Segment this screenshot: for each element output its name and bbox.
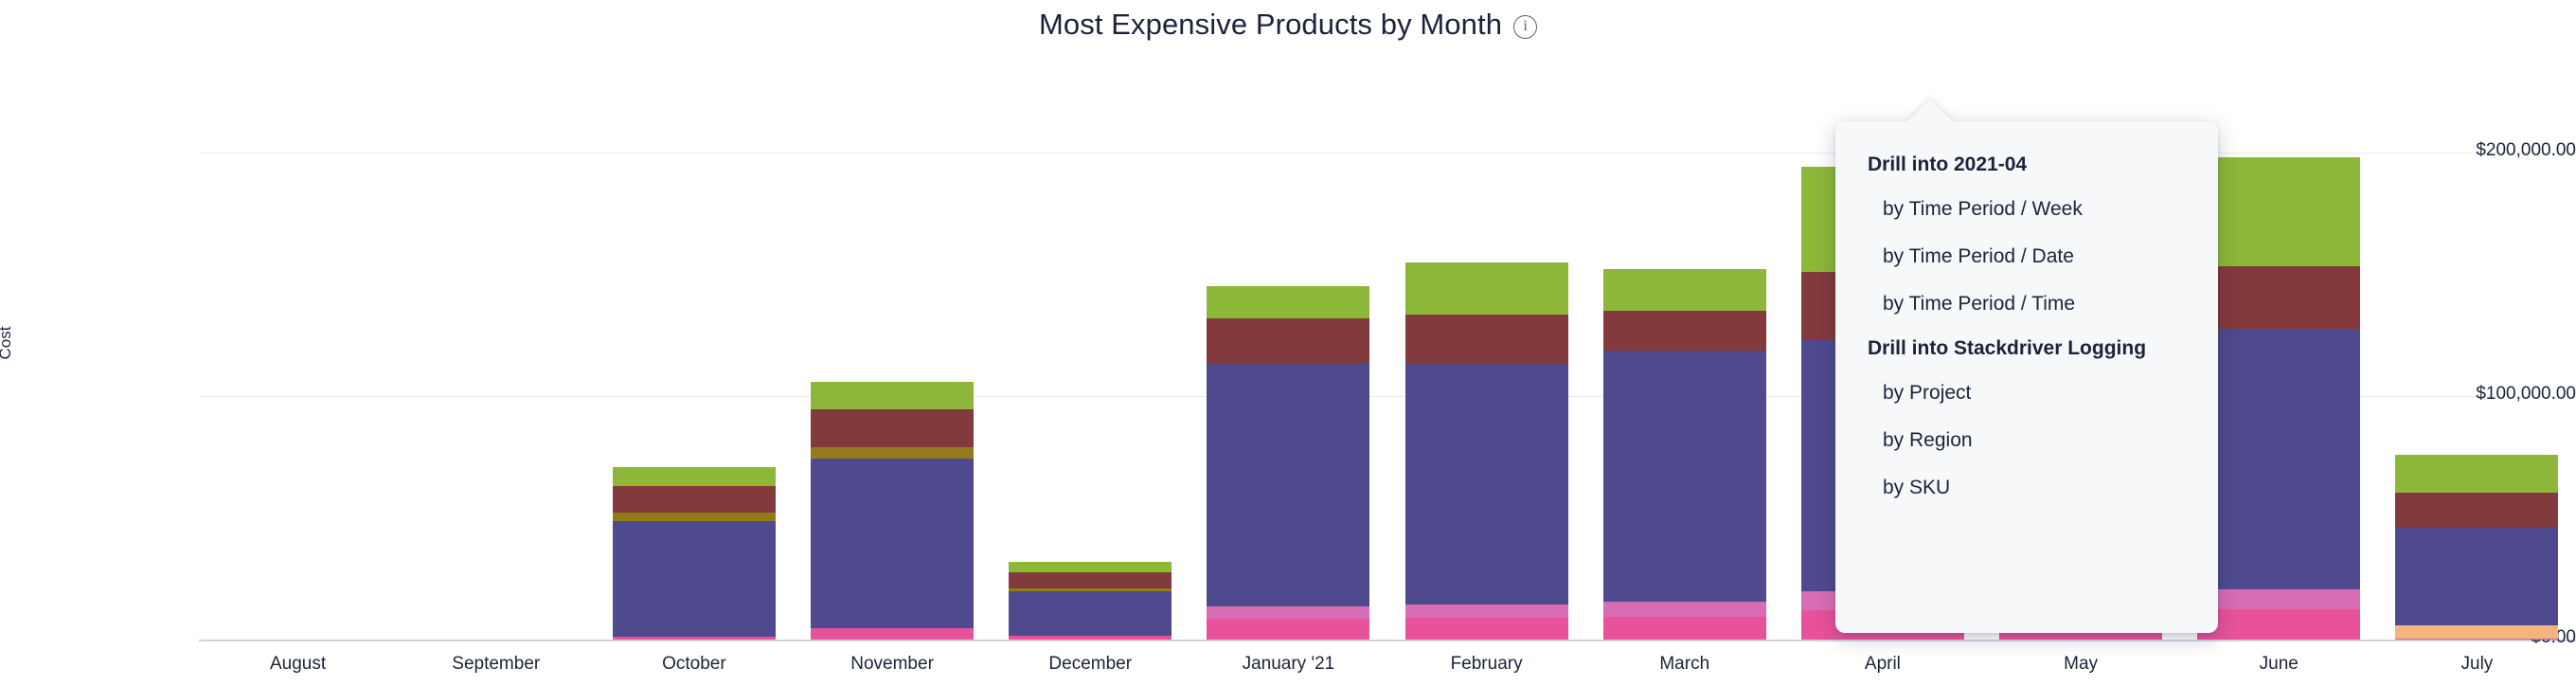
bar-segment-pink[interactable] xyxy=(1405,618,1568,640)
bar-segment-dark-red[interactable] xyxy=(1009,572,1172,588)
bar-segment-pink[interactable] xyxy=(1603,617,1766,640)
bar-column[interactable] xyxy=(613,467,776,640)
x-axis-tick-label: October xyxy=(662,654,726,675)
bar-segment-purple[interactable] xyxy=(613,521,776,637)
bar-segment-green[interactable] xyxy=(1009,562,1172,573)
bar-segment-dark-red[interactable] xyxy=(2395,493,2558,528)
drill-menu-item[interactable]: by Time Period / Time xyxy=(1835,280,2218,328)
bar-segment-light-pink[interactable] xyxy=(2197,589,2360,609)
bar-column[interactable] xyxy=(1405,262,1568,640)
bar-segment-purple[interactable] xyxy=(2197,329,2360,589)
bar-segment-dark-red[interactable] xyxy=(1207,318,1369,364)
bar-segment-dark-red[interactable] xyxy=(613,486,776,513)
drill-menu-item[interactable]: by Project xyxy=(1835,370,2218,417)
bar-segment-pink[interactable] xyxy=(613,637,776,640)
drill-menu-item[interactable]: by Time Period / Week xyxy=(1835,186,2218,233)
bar-column[interactable] xyxy=(2197,157,2360,640)
bar-segment-dark-red[interactable] xyxy=(1603,311,1766,351)
chart-page: Most Expensive Products by Month i Cost … xyxy=(0,0,2576,686)
bar-segment-green[interactable] xyxy=(811,382,974,410)
x-axis-tick-label: July xyxy=(2461,654,2494,675)
bar-segment-purple[interactable] xyxy=(1405,363,1568,604)
bar-segment-dark-red[interactable] xyxy=(811,409,974,447)
x-axis-tick-label: June xyxy=(2260,654,2299,675)
bar-segment-pink[interactable] xyxy=(1009,636,1172,640)
drill-menu-item[interactable]: by SKU xyxy=(1835,464,2218,512)
bar-segment-light-pink[interactable] xyxy=(1207,606,1369,619)
x-axis-tick-label: December xyxy=(1048,654,1132,675)
bar-segment-green[interactable] xyxy=(1207,286,1369,317)
bar-column[interactable] xyxy=(811,382,974,640)
bar-segment-purple[interactable] xyxy=(1009,591,1172,637)
bar-segment-dark-red[interactable] xyxy=(2197,266,2360,330)
bar-segment-purple[interactable] xyxy=(811,459,974,629)
bar-segment-green[interactable] xyxy=(1603,269,1766,311)
drill-menu-arrow xyxy=(1905,99,1955,123)
y-axis-title: Cost xyxy=(0,327,15,360)
drill-menu-item[interactable]: by Region xyxy=(1835,417,2218,464)
bar-segment-light-pink[interactable] xyxy=(1405,605,1568,618)
bar-segment-dark-red[interactable] xyxy=(1405,315,1568,363)
bars-layer xyxy=(199,0,2576,686)
drill-menu[interactable]: Drill into 2021-04by Time Period / Weekb… xyxy=(1835,121,2218,633)
drill-menu-item[interactable]: by Time Period / Date xyxy=(1835,233,2218,280)
bar-segment-green[interactable] xyxy=(2395,455,2558,493)
x-axis-tick-label: May xyxy=(2064,654,2098,675)
bar-segment-green[interactable] xyxy=(2197,157,2360,265)
bar-segment-light-pink[interactable] xyxy=(1603,602,1766,616)
x-axis-tick-label: November xyxy=(850,654,934,675)
x-axis-tick-label: September xyxy=(452,654,540,675)
bar-segment-olive[interactable] xyxy=(811,447,974,459)
x-axis-tick-label: March xyxy=(1659,654,1709,675)
x-axis-tick-label: August xyxy=(270,654,326,675)
bar-segment-pink[interactable] xyxy=(2395,639,2558,640)
bar-segment-olive[interactable] xyxy=(613,513,776,521)
bar-column[interactable] xyxy=(1009,562,1172,640)
bar-column[interactable] xyxy=(1207,286,1369,640)
bar-segment-pink[interactable] xyxy=(2197,609,2360,640)
x-axis-tick-label: February xyxy=(1451,654,1523,675)
bar-segment-pink[interactable] xyxy=(811,628,974,640)
bar-segment-pink[interactable] xyxy=(1207,619,1369,640)
x-axis-tick-label: April xyxy=(1865,654,1901,675)
bar-segment-purple[interactable] xyxy=(2395,528,2558,625)
bar-segment-green[interactable] xyxy=(1405,262,1568,315)
drill-menu-section-header: Drill into Stackdriver Logging xyxy=(1835,328,2218,370)
x-axis-tick-label: January '21 xyxy=(1243,654,1335,675)
bar-column[interactable] xyxy=(2395,455,2558,640)
bar-segment-purple[interactable] xyxy=(1207,363,1369,606)
drill-menu-section-header: Drill into 2021-04 xyxy=(1835,144,2218,186)
bar-column[interactable] xyxy=(1603,269,1766,640)
bar-segment-orange[interactable] xyxy=(2395,625,2558,639)
bar-segment-purple[interactable] xyxy=(1603,351,1766,602)
bar-segment-green[interactable] xyxy=(613,467,776,487)
